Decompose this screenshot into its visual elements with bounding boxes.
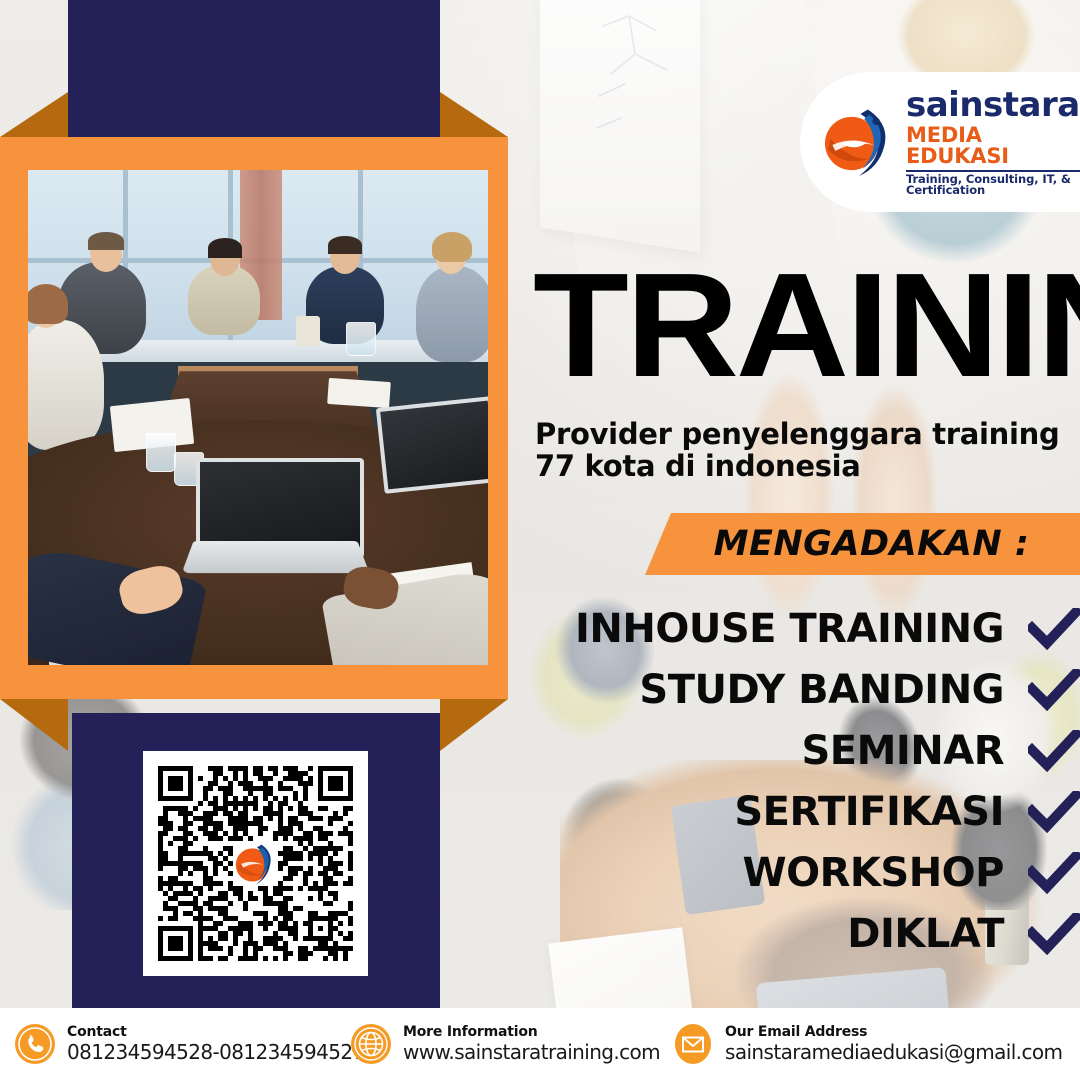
brand-logo-text: sainstara MEDIA EDUKASI Training, Consul… [906,88,1080,197]
service-label: INHOUSE TRAINING [575,606,1004,652]
list-item[interactable]: SERTIFIKASI [540,781,1080,842]
globe-icon [350,1023,392,1065]
photo-hair-left [28,284,68,324]
photo-hair-left-far [88,232,124,250]
photo-frame [0,137,508,699]
brand-tagline: Training, Consulting, IT, & Certificatio… [906,174,1080,197]
bevel-bottom-left [0,699,68,751]
list-item[interactable]: DIKLAT [540,903,1080,964]
check-icon [1028,852,1080,894]
footer-website-title: More Information [403,1025,660,1041]
footer-email-text: Our Email Address sainstaramediaedukasi@… [725,1025,1062,1063]
service-label: WORKSHOP [742,850,1004,896]
footer-email[interactable]: Our Email Address sainstaramediaedukasi@… [672,1023,1062,1065]
photo-laptop-keyboard [182,541,370,573]
sainstara-logo-icon [233,841,279,887]
brand-name: sainstara [906,88,1080,122]
photo-person-right [416,266,488,362]
footer-contact-title: Contact [67,1025,365,1041]
footer-website-value: www.sainstaratraining.com [403,1041,660,1063]
footer-contact-text: Contact 081234594528-081234594527 [67,1025,365,1063]
page-title: TRAINING [533,258,1080,394]
list-item[interactable]: WORKSHOP [540,842,1080,903]
photo-water-glass [346,322,376,356]
service-label: SERTIFIKASI [734,789,1004,835]
meeting-photo [28,170,488,665]
photo-hair-center [208,238,242,258]
check-icon [1028,791,1080,833]
list-item[interactable]: INHOUSE TRAINING [540,598,1080,659]
phone-icon [14,1023,56,1065]
sainstara-mark-icon [822,105,896,179]
bevel-bottom-right [440,699,508,751]
training-poster: sainstara MEDIA EDUKASI Training, Consul… [0,0,1080,1080]
service-label: STUDY BANDING [639,667,1004,713]
photo-paper [327,378,391,408]
bevel-top-right [440,92,508,137]
footer-email-title: Our Email Address [725,1025,1062,1041]
photo-coffee-cup [296,316,320,346]
check-icon [1028,608,1080,650]
photo-hair-right-far [328,236,362,254]
brand-logo: sainstara MEDIA EDUKASI Training, Consul… [800,72,1080,212]
list-item[interactable]: SEMINAR [540,720,1080,781]
footer-email-value: sainstaramediaedukasi@gmail.com [725,1041,1062,1063]
footer-website-text: More Information www.sainstaratraining.c… [403,1025,660,1063]
services-list: INHOUSE TRAINING STUDY BANDING SEMINAR S… [540,598,1080,964]
photo-water-glass [146,432,176,472]
navy-header-block [68,0,440,137]
check-icon [1028,730,1080,772]
service-label: SEMINAR [801,728,1004,774]
footer-website[interactable]: More Information www.sainstaratraining.c… [350,1023,660,1065]
footer-contact[interactable]: Contact 081234594528-081234594527 [14,1023,365,1065]
bevel-top-left [0,92,68,137]
qr-code[interactable] [143,751,368,976]
list-item[interactable]: STUDY BANDING [540,659,1080,720]
brand-subtitle: MEDIA EDUKASI [906,125,1080,167]
footer-contact-value: 081234594528-081234594527 [67,1041,365,1063]
check-icon [1028,669,1080,711]
mengadakan-label: MENGADAKAN : [696,524,1030,564]
photo-hair-right [432,232,472,262]
check-icon [1028,913,1080,955]
photo-person-left [28,320,104,450]
photo-laptop-right [376,396,488,494]
page-subtitle: Provider penyelenggara training 77 kota … [535,418,1070,483]
service-label: DIKLAT [847,911,1004,957]
footer-bar: Contact 081234594528-081234594527 More I… [0,1008,1080,1080]
envelope-icon [672,1023,714,1065]
mengadakan-banner: MENGADAKAN : [645,513,1080,575]
